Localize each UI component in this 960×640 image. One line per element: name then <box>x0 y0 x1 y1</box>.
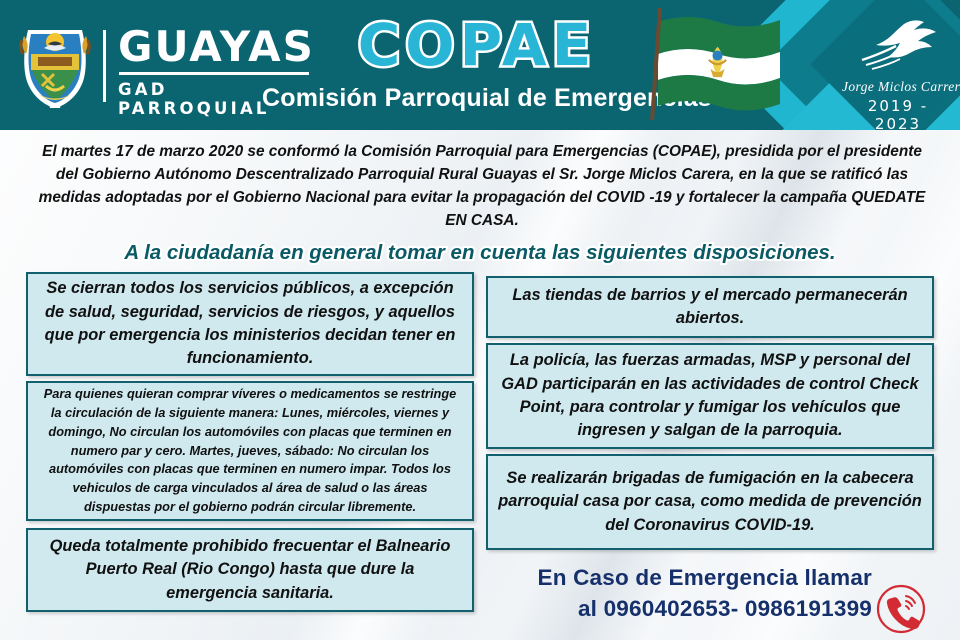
signature-name: Jorge Miclos Carrera <box>842 79 954 95</box>
measure-box-left-3: Queda totalmente prohibido frecuentar el… <box>26 528 474 612</box>
copae-title-block: COPAE Comisión Parroquial de Emergencias <box>262 16 692 113</box>
poster-header: GUAYAS GAD PARROQUIAL COPAE Comisión Par… <box>0 0 960 130</box>
guayas-flag-icon <box>640 8 800 120</box>
citizen-banner: A la ciudadanía en general tomar en cuen… <box>0 241 960 265</box>
emergency-line-1: En Caso de Emergencia llamar <box>486 562 872 593</box>
brand-divider <box>103 30 106 102</box>
citizen-banner-text: A la ciudadanía en general tomar en cuen… <box>124 241 835 264</box>
measure-box-left-1: Se cierran todos los servicios públicos,… <box>26 272 474 376</box>
emergency-text: En Caso de Emergencia llamar al 09604026… <box>486 562 872 624</box>
copae-subtitle: Comisión Parroquial de Emergencias <box>262 84 692 113</box>
measure-box-right-1: Las tiendas de barrios y el mercado perm… <box>486 276 934 338</box>
measure-box-right-3: Se realizarán brigadas de fumigación en … <box>486 454 934 550</box>
poster-root: GUAYAS GAD PARROQUIAL COPAE Comisión Par… <box>0 0 960 640</box>
copae-acronym: COPAE <box>262 16 692 74</box>
emergency-footer: En Caso de Emergencia llamar al 09604026… <box>486 560 934 638</box>
signature-years: 2019 - 2023 <box>842 97 954 130</box>
coat-of-arms-icon <box>16 24 94 110</box>
emergency-line-2: al 0960402653- 0986191399 <box>486 593 872 624</box>
phone-ring-icon[interactable] <box>876 584 926 634</box>
measure-box-right-2: La policía, las fuerzas armadas, MSP y p… <box>486 343 934 449</box>
dove-icon <box>842 16 954 72</box>
intro-paragraph: El martes 17 de marzo 2020 se conformó l… <box>32 140 932 232</box>
mayor-signature-block: Jorge Miclos Carrera 2019 - 2023 <box>842 16 954 130</box>
measure-box-left-2: Para quienes quieran comprar víveres o m… <box>26 381 474 521</box>
